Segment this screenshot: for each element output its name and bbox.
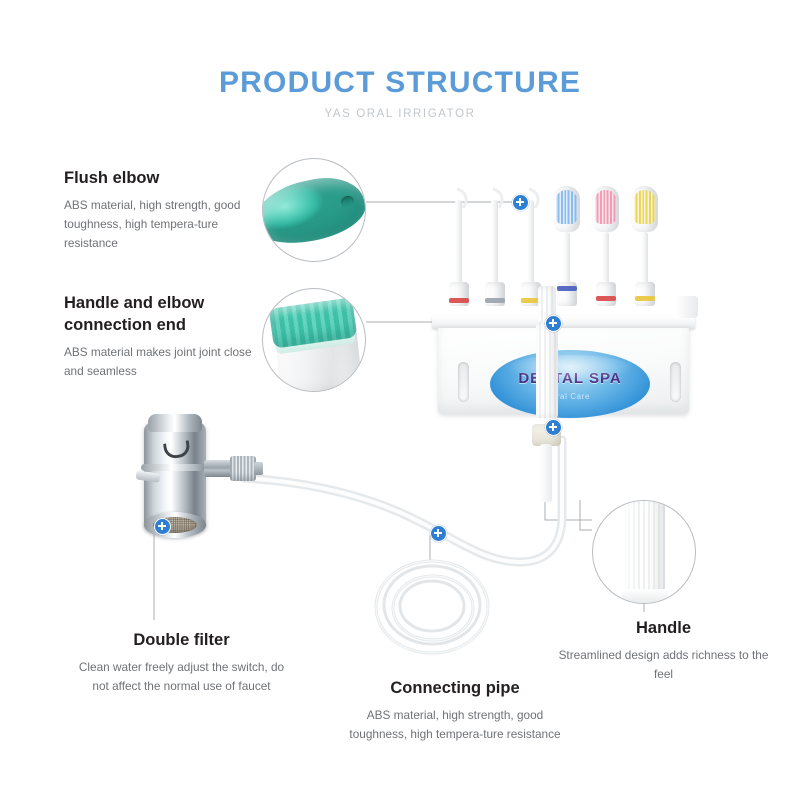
brush-head-2-stem [602,232,609,286]
brush-head-1-head [553,186,580,232]
callout-double-filter-description: Clean water freely adjust the switch, do… [74,658,289,696]
faucet-knurled-nut [230,456,256,481]
brush-head-3-base [635,282,655,306]
jet-tip-2-color-band [485,298,505,303]
detail-circle-flush-elbow [262,158,366,262]
callout-flush-elbow-heading: Flush elbow [64,168,252,190]
holder-back-plate: DENTAL SPA Oral Care [438,328,689,414]
callout-connecting-pipe-heading: Connecting pipe [345,678,565,700]
marker-double-filter[interactable] [154,518,171,535]
faucet-hose-fitting [254,462,263,475]
callout-connection-end: Handle and elbow connection end ABS mate… [64,293,269,381]
callout-connecting-pipe: Connecting pipe ABS material, high stren… [345,678,565,744]
brush-head-2-bristles [595,190,616,224]
brush-head-3-stem [641,232,648,286]
brand-oval: DENTAL SPA Oral Care [490,350,650,418]
detail-circle-connection-end [262,288,366,392]
brush-head-3-bristles [634,190,655,224]
callout-handle: Handle Streamlined design adds richness … [556,618,771,684]
handle-lower-shaft [540,444,552,502]
callout-double-filter: Double filter Clean water freely adjust … [74,630,289,696]
spare-cap [676,296,698,318]
marker-flush-elbow[interactable] [512,194,529,211]
jet-tip-1-color-band [449,298,469,303]
callout-connection-end-heading: Handle and elbow connection end [64,293,269,337]
marker-connecting-pipe[interactable] [430,525,447,542]
brush-head-3-head [631,186,658,232]
brush-head-2-base [596,282,616,306]
brush-head-2-color-band [596,296,616,301]
callout-flush-elbow: Flush elbow ABS material, high strength,… [64,168,252,253]
faucet-ring [141,464,209,471]
brush-head-3-color-band [635,296,655,301]
callout-handle-heading: Handle [556,618,771,640]
callout-handle-description: Streamlined design adds richness to the … [556,646,771,684]
brush-head-1-bristles [556,190,577,224]
brand-label: DENTAL SPA [490,370,650,387]
faucet-diverter-assembly [130,412,260,552]
wall-mount-holder: DENTAL SPA Oral Care [432,316,695,416]
callout-double-filter-heading: Double filter [74,630,289,652]
faucet-cap [148,414,202,432]
callout-flush-elbow-description: ABS material, high strength, good toughn… [64,196,252,253]
holder-mount-slot-right [670,362,681,402]
handle-main-shaft [536,322,558,418]
product-structure-infographic: PRODUCT STRUCTURE YAS ORAL IRRIGATOR [0,0,800,800]
jet-tip-3-stem [527,200,534,286]
brush-head-2-head [592,186,619,232]
brush-head-1-color-band [557,286,577,291]
marker-connection-end[interactable] [545,315,562,332]
callout-connecting-pipe-description: ABS material, high strength, good toughn… [345,706,565,744]
jet-tip-1-stem [455,200,462,286]
brush-head-1-stem [563,232,570,286]
brand-sublabel: Oral Care [490,392,650,401]
jet-tip-2-stem [491,200,498,286]
marker-handle[interactable] [545,419,562,436]
faucet-side-spout [135,470,160,482]
flush-elbow-tip-image [262,169,366,253]
callout-connection-end-description: ABS material makes joint joint close and… [64,343,269,381]
holder-mount-slot-left [458,362,469,402]
